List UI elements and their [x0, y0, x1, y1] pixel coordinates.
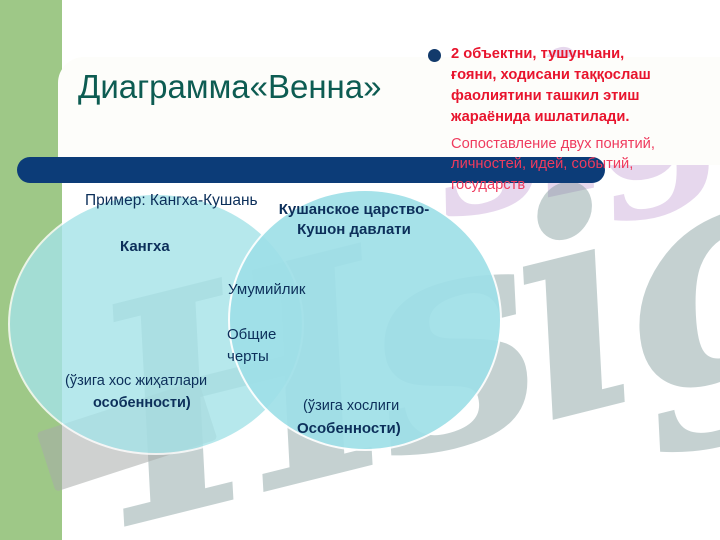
venn-overlap-label-ru: Общие черты — [227, 324, 307, 368]
venn-left-features-ru: особенности) — [93, 393, 191, 415]
venn-example-label: Пример: Кангха-Кушань — [85, 192, 258, 210]
bullet-dot-icon — [428, 49, 441, 62]
venn-right-circle-title-line2: Кушон давлати — [297, 221, 411, 238]
venn-right-circle-title: Кушанское царство- Кушон давлати — [266, 200, 442, 241]
page-title: Диаграмма«Венна» — [78, 68, 381, 106]
right-text-red-paragraph: 2 объектни, тушунчани, ғояни, ходисани т… — [451, 44, 663, 128]
venn-right-circle-title-line1: Кушанское царство- — [279, 201, 430, 218]
venn-right-features: (ўзига хослиги Особенности) — [303, 395, 493, 441]
venn-left-circle-title: Кангха — [120, 238, 170, 255]
venn-left-features: (ўзига хос жиҳатлари особенности) — [65, 371, 285, 415]
venn-left-features-uz: (ўзига хос жиҳатлари — [65, 373, 207, 389]
right-text-pink-paragraph: Сопоставление двух понятий, личностей, и… — [451, 134, 663, 196]
venn-overlap-label-uz: Умумийлик — [228, 281, 305, 298]
right-text-column: 2 объектни, тушунчани, ғояни, ходисани т… — [451, 44, 663, 195]
venn-right-features-ru: Особенности) — [297, 417, 401, 440]
venn-right-features-uz: (ўзига хослиги — [303, 398, 399, 414]
venn-overlap-label-ru-line2: черты — [227, 348, 269, 365]
slide-canvas: sig Hsig Пример: Кангха-Кушань Кангха Ку… — [0, 0, 720, 540]
venn-overlap-label-ru-line1: Общие — [227, 326, 276, 343]
